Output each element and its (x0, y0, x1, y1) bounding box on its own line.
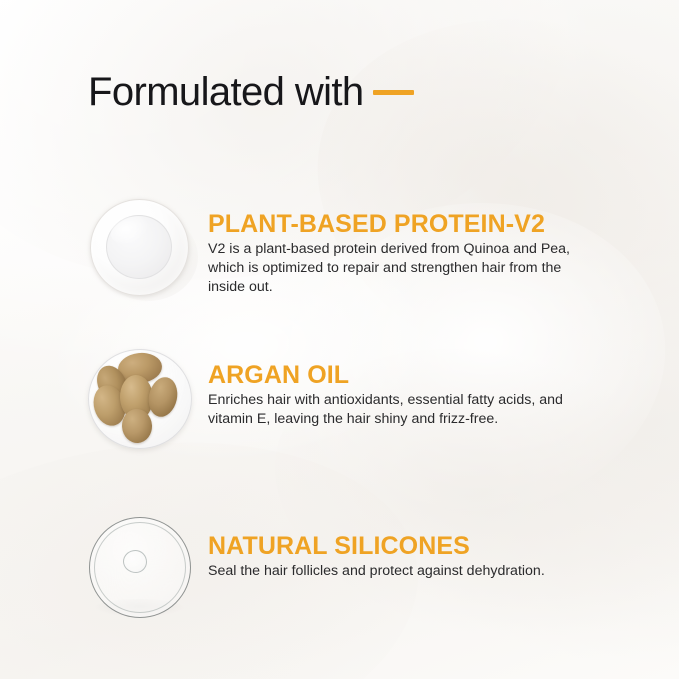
page-title: Formulated with (88, 72, 364, 112)
ingredient-description: V2 is a plant-based protein derived from… (208, 240, 580, 297)
ingredient-row-natural-silicones: NATURAL SILICONES Seal the hair follicle… (86, 513, 545, 625)
ingredient-copy: NATURAL SILICONES Seal the hair follicle… (208, 513, 545, 581)
ingredient-copy: ARGAN OIL Enriches hair with antioxidant… (208, 343, 580, 429)
gel-droplet (123, 550, 147, 573)
ingredient-copy: PLANT-BASED PROTEIN-V2 V2 is a plant-bas… (208, 193, 580, 297)
ingredient-title: NATURAL SILICONES (208, 533, 545, 560)
white-bowl-icon (86, 193, 200, 305)
ingredient-description: Enriches hair with antioxidants, essenti… (208, 391, 580, 429)
product-infographic: Formulated with PLANT-BASED PROTEIN-V2 V… (0, 0, 679, 679)
ingredient-description: Seal the hair follicles and protect agai… (208, 562, 545, 581)
header: Formulated with (88, 72, 414, 112)
clear-gel-dish-icon (86, 513, 200, 625)
argan-nuts-icon (86, 343, 200, 455)
ingredient-row-plant-based-protein: PLANT-BASED PROTEIN-V2 V2 is a plant-bas… (86, 193, 580, 305)
orange-dash-icon (373, 90, 414, 95)
ingredient-title: PLANT-BASED PROTEIN-V2 (208, 211, 580, 238)
ingredient-title: ARGAN OIL (208, 362, 580, 389)
ingredient-row-argan-oil: ARGAN OIL Enriches hair with antioxidant… (86, 343, 580, 455)
